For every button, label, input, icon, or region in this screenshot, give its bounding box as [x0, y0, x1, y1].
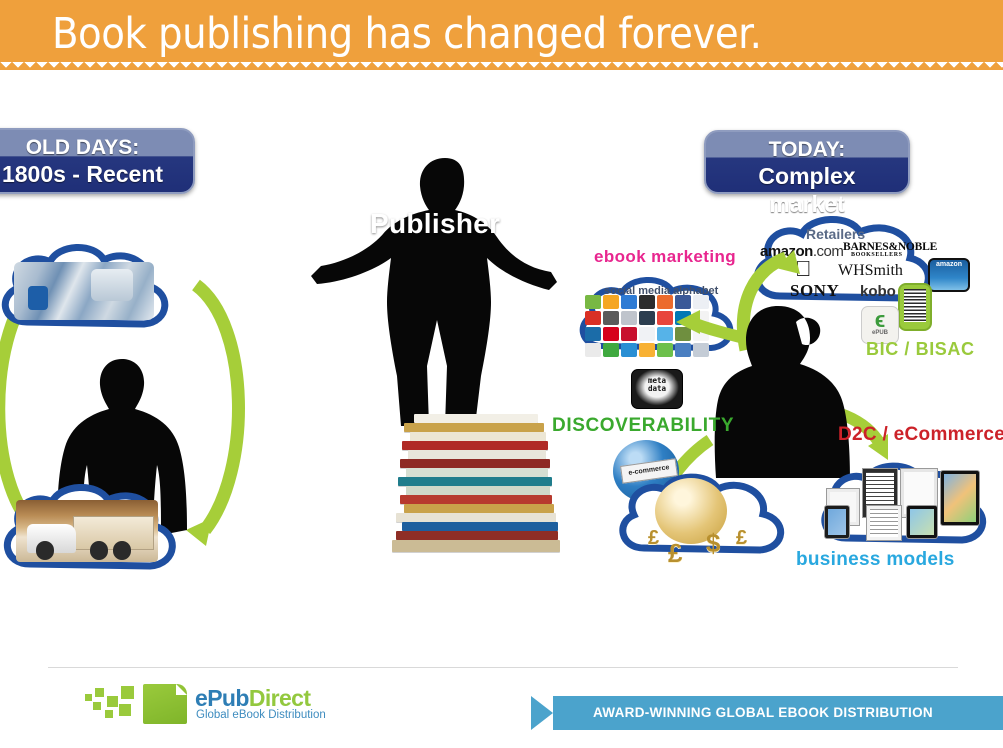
- page-title: Book publishing has changed forever.: [52, 6, 761, 62]
- book: [402, 441, 548, 450]
- delivery-truck-image: [16, 500, 158, 562]
- epub-label: ePUB: [862, 330, 898, 336]
- slide-header: Book publishing has changed forever.: [0, 0, 1003, 70]
- book: [406, 486, 550, 495]
- badge-old-days-line1: OLD DAYS:: [0, 135, 179, 160]
- device-tablet: [940, 470, 980, 526]
- logo-pixel: [119, 704, 131, 716]
- label-bic-bisac: BIC / BISAC: [866, 339, 975, 360]
- badge-today-line1: TODAY:: [720, 137, 894, 162]
- publisher-label: Publisher: [370, 208, 500, 240]
- market-person-silhouette: [700, 300, 860, 480]
- cloud-printing-press: [0, 240, 182, 346]
- book: [408, 450, 546, 459]
- book-stack: [392, 414, 568, 552]
- truck-wheel: [113, 541, 131, 559]
- logo-brand-part2: Direct: [249, 685, 311, 711]
- logo-brand-part1: ePub: [195, 685, 249, 711]
- device-ereader: [866, 505, 902, 541]
- header-edge-fill: [0, 70, 1003, 76]
- book: [400, 459, 550, 468]
- cloud-delivery-truck: [0, 478, 192, 586]
- badge-today: TODAY: Complex market: [704, 130, 910, 194]
- book: [400, 495, 552, 504]
- currency-symbol: £: [668, 538, 682, 569]
- metadata-icon: metadata: [631, 369, 683, 409]
- publisher-silhouette: [305, 150, 590, 440]
- award-banner: AWARD-WINNING GLOBAL EBOOK DISTRIBUTION: [553, 696, 1003, 730]
- ereader-icon: [898, 283, 932, 331]
- badge-old-days-line2: 1800s - Recent: [0, 160, 179, 188]
- award-banner-text: AWARD-WINNING GLOBAL EBOOK DISTRIBUTION: [593, 696, 933, 730]
- device-tablet: [906, 505, 938, 539]
- book: [398, 477, 552, 486]
- label-discoverability: DISCOVERABILITY: [552, 415, 734, 437]
- device-screen: [870, 509, 898, 537]
- logo-pixel: [95, 688, 104, 697]
- label-d2c-ecommerce: D2C / eCommerce: [838, 424, 1003, 446]
- book: [404, 504, 554, 513]
- logo-pixel: [105, 710, 113, 718]
- currency-symbol: $: [706, 528, 720, 559]
- logo-brand: ePubDirect: [195, 685, 310, 712]
- label-business-models: business models: [796, 549, 955, 571]
- slide-root: Book publishing has changed forever. OLD…: [0, 0, 1003, 748]
- logo-page-icon: [143, 684, 187, 724]
- device-screen: [828, 509, 846, 535]
- epubdirect-logo: ePubDirect Global eBook Distribution: [85, 684, 315, 724]
- footer-divider: [48, 667, 958, 668]
- device-screen: [910, 509, 934, 535]
- label-ebook-marketing: ebook marketing: [594, 247, 736, 267]
- logo-tagline: Global eBook Distribution: [196, 709, 326, 721]
- truck-wheel: [90, 541, 108, 559]
- book: [406, 468, 548, 477]
- currency-symbol: £: [736, 527, 747, 550]
- book: [396, 531, 558, 540]
- printing-press-image: [14, 262, 154, 320]
- logo-pixel: [85, 694, 92, 701]
- ereader-screen: [904, 289, 926, 322]
- award-banner-arrow: [531, 696, 553, 730]
- book: [392, 540, 560, 552]
- book: [402, 522, 558, 531]
- book: [414, 414, 538, 423]
- book: [396, 513, 556, 522]
- kindle-app-icon: amazon: [928, 258, 970, 292]
- device-phone: [824, 505, 850, 539]
- logo-pixel: [121, 686, 134, 699]
- device-screen: [944, 474, 976, 522]
- logo-pixel: [93, 702, 101, 710]
- metadata-icon-label: metadata: [632, 377, 682, 393]
- book: [410, 432, 546, 441]
- currency-symbol: £: [648, 527, 659, 550]
- book: [404, 423, 544, 432]
- truck-wheel: [36, 541, 54, 559]
- badge-old-days: OLD DAYS: 1800s - Recent: [0, 128, 195, 194]
- logo-pixel: [107, 696, 118, 707]
